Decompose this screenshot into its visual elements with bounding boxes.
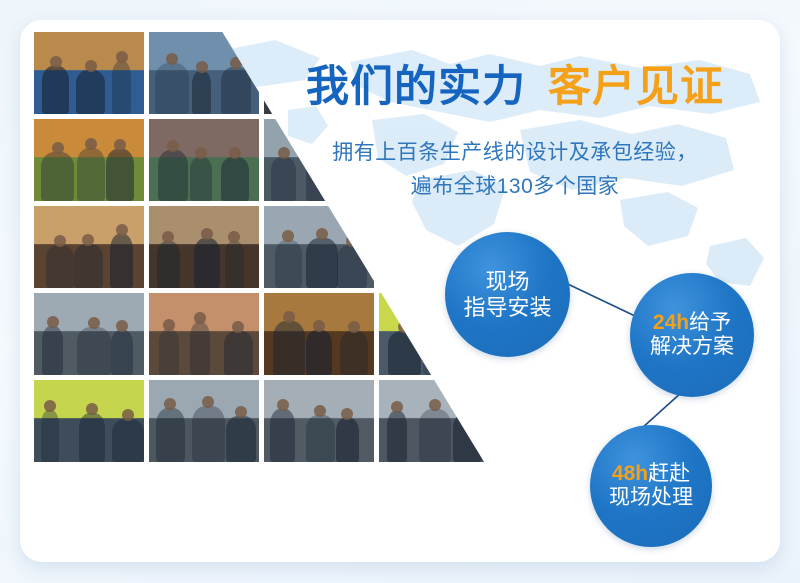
- title-primary: 我们的实力: [306, 63, 526, 111]
- gallery-photo: [149, 293, 259, 375]
- gallery-photo: [34, 119, 144, 201]
- subtitle: 拥有上百条生产线的设计及承包经验， 遍布全球130多个国家: [270, 136, 760, 204]
- subtitle-line-1: 拥有上百条生产线的设计及承包经验，: [270, 136, 760, 170]
- gallery-photo: [34, 293, 144, 375]
- bubble2-accent-rest: 给予: [689, 311, 731, 334]
- title-secondary: 客户见证: [548, 63, 724, 111]
- gallery-photo: [34, 32, 144, 114]
- gallery-photo: [149, 119, 259, 201]
- bubble1-line1: 现场: [485, 269, 529, 295]
- bubble-24h-solution[interactable]: 24h给予 解决方案: [630, 273, 754, 397]
- gallery-photo: [149, 380, 259, 462]
- bubble3-accent: 48h: [612, 462, 648, 485]
- gallery-photo: [149, 206, 259, 288]
- gallery-photo: [264, 293, 374, 375]
- bubble-on-site-installation[interactable]: 现场 指导安装: [445, 232, 570, 357]
- promo-banner: 现场 指导安装 24h给予 解决方案 48h赶赴 现场处理 我们的实力客户见证 …: [0, 0, 800, 583]
- bubble2-line1: 24h给予: [653, 311, 731, 335]
- bubble3-line2: 现场处理: [609, 486, 693, 510]
- bubble2-accent: 24h: [653, 311, 689, 334]
- subtitle-line-2: 遍布全球130多个国家: [270, 170, 760, 204]
- bubble3-line1: 48h赶赴: [612, 462, 690, 486]
- bubble-48h-onsite[interactable]: 48h赶赴 现场处理: [590, 425, 712, 547]
- page-title: 我们的实力客户见证: [270, 52, 760, 114]
- gallery-photo: [34, 206, 144, 288]
- bubble1-line2: 指导安装: [463, 295, 551, 321]
- gallery-photo: [264, 380, 374, 462]
- gallery-photo: [34, 380, 144, 462]
- bubble2-line2: 解决方案: [650, 335, 734, 359]
- bubble3-accent-rest: 赶赴: [648, 462, 690, 485]
